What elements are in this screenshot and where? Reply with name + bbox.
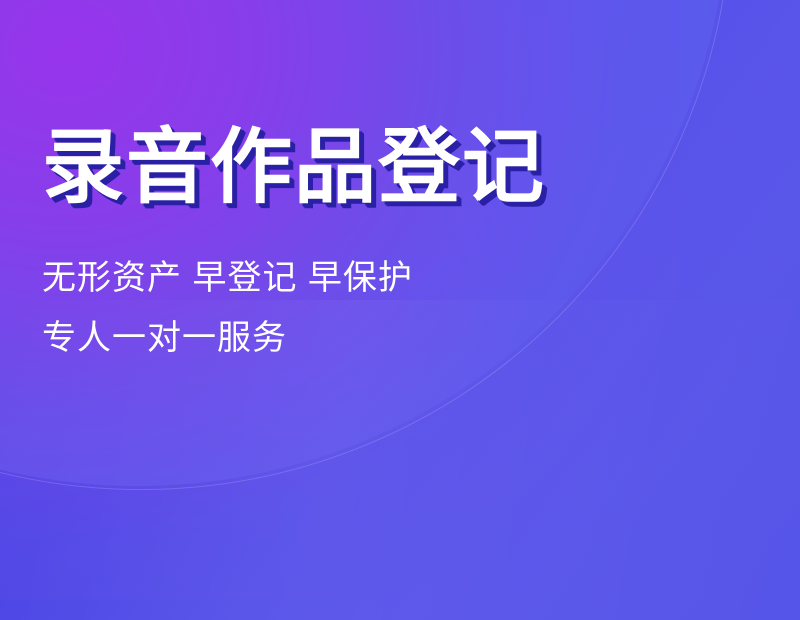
banner-subtitle-line-1: 无形资产 早登记 早保护	[42, 248, 642, 308]
banner-content: 录音作品登记 无形资产 早登记 早保护 专人一对一服务	[42, 120, 642, 368]
promo-banner: 录音作品登记 无形资产 早登记 早保护 专人一对一服务	[0, 0, 800, 620]
banner-headline: 录音作品登记	[42, 120, 642, 216]
banner-subtitle-line-2: 专人一对一服务	[42, 308, 642, 368]
